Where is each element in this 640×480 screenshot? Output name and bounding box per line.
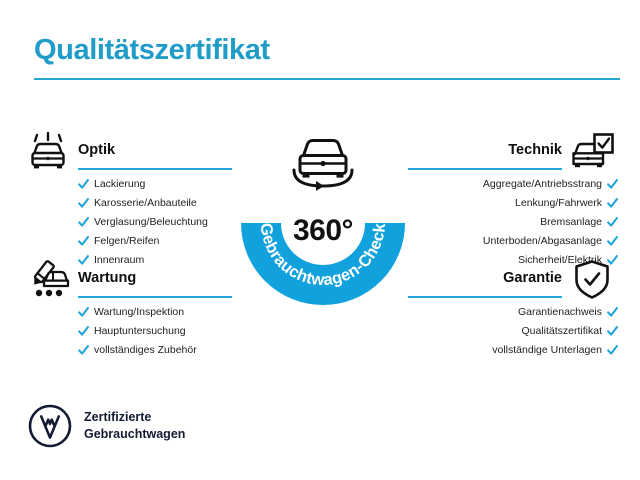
section-technik-header: Technik xyxy=(408,130,618,176)
section-optik-list: Lackierung Karosserie/Anbauteile Verglas… xyxy=(78,176,232,268)
service-pen-car-icon xyxy=(22,258,74,302)
list-item-label: Garantienachweis xyxy=(518,307,602,318)
list-item: vollständiges Zubehör xyxy=(78,342,232,358)
list-item-label: Wartung/Inspektion xyxy=(94,307,184,318)
check-icon xyxy=(607,217,618,228)
check-icon xyxy=(78,198,89,209)
section-wartung: Wartung Wartung/Inspektion Hauptuntersuc… xyxy=(22,258,232,361)
check-icon xyxy=(607,307,618,318)
section-wartung-header: Wartung xyxy=(22,258,232,304)
list-item: Aggregate/Antriebsstrang xyxy=(408,176,618,192)
badge-360-gebrauchtwagen-check: Gebrauchtwagen-Check 360° xyxy=(240,118,406,308)
section-technik-list: Aggregate/Antriebsstrang Lenkung/Fahrwer… xyxy=(408,176,618,268)
list-item-label: Lenkung/Fahrwerk xyxy=(515,198,602,209)
section-garantie: Garantie Garantienachweis Qualitätszerti… xyxy=(408,258,618,361)
section-wartung-list: Wartung/Inspektion Hauptuntersuchung vol… xyxy=(78,304,232,358)
check-icon xyxy=(78,217,89,228)
check-icon xyxy=(78,326,89,337)
check-icon xyxy=(607,198,618,209)
section-wartung-title: Wartung xyxy=(78,270,136,286)
section-optik: Optik Lackierung Karosserie/Anbauteile V… xyxy=(22,130,232,271)
shield-check-icon xyxy=(566,258,618,302)
check-icon xyxy=(607,236,618,247)
check-icon xyxy=(78,179,89,190)
list-item-label: Lackierung xyxy=(94,179,145,190)
footer-line-2: Gebrauchtwagen xyxy=(84,426,185,443)
section-optik-divider xyxy=(78,168,232,170)
check-icon xyxy=(78,236,89,247)
list-item: Karosserie/Anbauteile xyxy=(78,195,232,211)
check-icon xyxy=(607,345,618,356)
list-item: vollständige Unterlagen xyxy=(408,342,618,358)
list-item-label: Bremsanlage xyxy=(540,217,602,228)
list-item: Unterboden/Abgasanlage xyxy=(408,233,618,249)
list-item: Wartung/Inspektion xyxy=(78,304,232,320)
list-item-label: vollständiges Zubehör xyxy=(94,345,197,356)
section-technik: Technik Aggregate/Antriebsstrang Lenkung… xyxy=(408,130,618,271)
section-optik-header: Optik xyxy=(22,130,232,176)
list-item-label: Aggregate/Antriebsstrang xyxy=(483,179,602,190)
section-garantie-header: Garantie xyxy=(408,258,618,304)
footer-brand: Zertifizierte Gebrauchtwagen xyxy=(28,404,185,448)
volkswagen-logo xyxy=(28,404,72,448)
list-item-label: Qualitätszertifikat xyxy=(521,326,602,337)
list-item: Garantienachweis xyxy=(408,304,618,320)
section-optik-title: Optik xyxy=(78,142,115,158)
list-item: Bremsanlage xyxy=(408,214,618,230)
page-title: Qualitätszertifikat xyxy=(34,34,270,67)
certificate-page: Qualitätszertifikat xyxy=(0,0,640,480)
footer-line-1: Zertifizierte xyxy=(84,409,185,426)
section-garantie-divider xyxy=(408,296,562,298)
section-garantie-list: Garantienachweis Qualitätszertifikat vol… xyxy=(408,304,618,358)
list-item-label: Verglasung/Beleuchtung xyxy=(94,217,208,228)
badge-degrees: 360° xyxy=(240,214,406,248)
check-icon xyxy=(607,326,618,337)
list-item: Lackierung xyxy=(78,176,232,192)
list-item-label: Unterboden/Abgasanlage xyxy=(483,236,602,247)
car-checkbox-icon xyxy=(566,130,618,174)
section-garantie-title: Garantie xyxy=(503,270,562,286)
list-item-label: vollständige Unterlagen xyxy=(492,345,602,356)
title-divider xyxy=(34,78,620,80)
check-icon xyxy=(78,307,89,318)
section-wartung-divider xyxy=(78,296,232,298)
list-item: Felgen/Reifen xyxy=(78,233,232,249)
section-technik-divider xyxy=(408,168,562,170)
list-item: Hauptuntersuchung xyxy=(78,323,232,339)
section-technik-title: Technik xyxy=(508,142,562,158)
check-icon xyxy=(78,345,89,356)
list-item: Lenkung/Fahrwerk xyxy=(408,195,618,211)
list-item-label: Hauptuntersuchung xyxy=(94,326,186,337)
car-shine-icon xyxy=(22,130,74,174)
list-item-label: Felgen/Reifen xyxy=(94,236,159,247)
list-item: Verglasung/Beleuchtung xyxy=(78,214,232,230)
check-icon xyxy=(607,179,618,190)
list-item-label: Karosserie/Anbauteile xyxy=(94,198,197,209)
list-item: Qualitätszertifikat xyxy=(408,323,618,339)
footer-brand-text: Zertifizierte Gebrauchtwagen xyxy=(84,409,185,443)
